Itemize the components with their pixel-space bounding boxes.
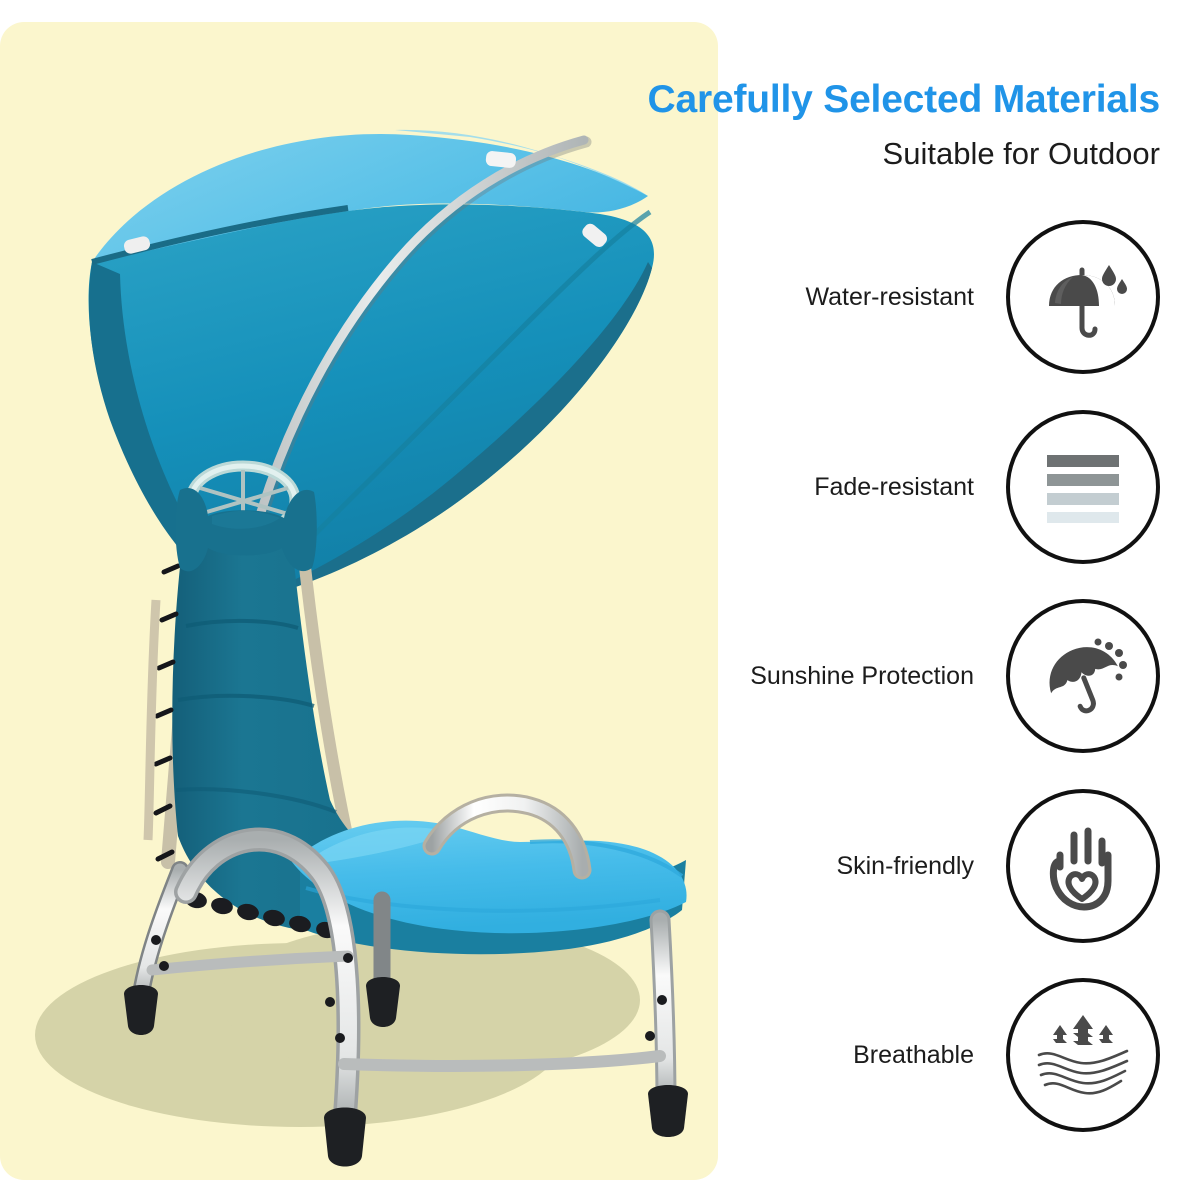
feature-icon-water-resistant: [1006, 220, 1160, 374]
fading-bars-icon: [1043, 447, 1123, 527]
canopy: [89, 130, 654, 600]
feature-icon-sunshine-protection: [1006, 599, 1160, 753]
umbrella-raindrops-icon: [1037, 251, 1129, 343]
feature-label-water-resistant: Water-resistant: [805, 283, 974, 312]
feature-label-sunshine-protection: Sunshine Protection: [750, 662, 974, 691]
feature-label-fade-resistant: Fade-resistant: [814, 473, 974, 502]
feature-row-skin-friendly: Skin-friendly: [700, 791, 1160, 941]
feature-label-breathable: Breathable: [853, 1041, 974, 1070]
feature-label-skin-friendly: Skin-friendly: [836, 852, 974, 881]
product-image: [0, 0, 718, 1200]
feature-row-breathable: Breathable: [700, 980, 1160, 1130]
feature-icon-fade-resistant: [1006, 410, 1160, 564]
airflow-waves-icon: [1035, 1011, 1131, 1099]
umbrella-sun-icon: [1037, 630, 1129, 722]
feature-icon-breathable: [1006, 978, 1160, 1132]
product-feature-infographic: Carefully Selected Materials Suitable fo…: [0, 0, 1200, 1200]
feature-icon-skin-friendly: [1006, 789, 1160, 943]
page-subtitle: Suitable for Outdoor: [500, 136, 1160, 172]
page-title: Carefully Selected Materials: [500, 78, 1160, 122]
feature-row-fade-resistant: Fade-resistant: [700, 412, 1160, 562]
feature-row-water-resistant: Water-resistant: [700, 222, 1160, 372]
feature-row-sunshine-protection: Sunshine Protection: [700, 601, 1160, 751]
hand-heart-icon: [1040, 821, 1126, 911]
